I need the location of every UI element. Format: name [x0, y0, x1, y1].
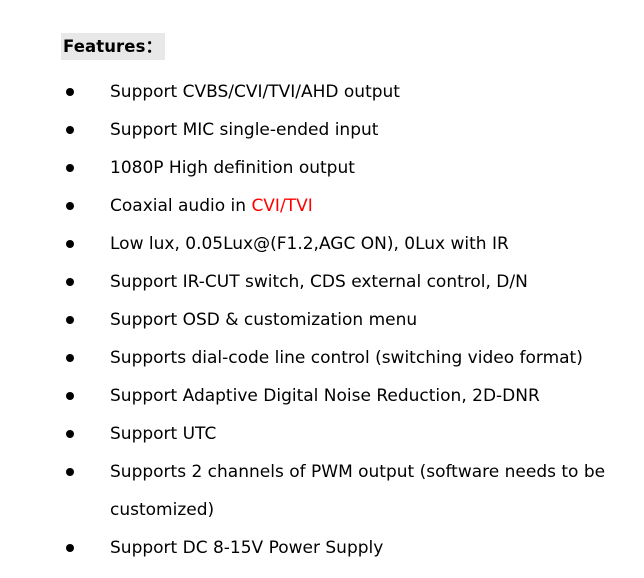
list-item: Support OSD & customization menu	[61, 301, 631, 339]
list-item-label: Support MIC single-ended input	[110, 120, 378, 140]
list-item: Support IR-CUT switch, CDS external cont…	[61, 263, 631, 301]
bullet-icon	[66, 278, 74, 286]
list-item-label-prefix: Coaxial audio in	[110, 196, 251, 216]
list-item-label: Support DC 8-15V Power Supply	[110, 538, 383, 558]
features-page: Features： Support CVBS/CVI/TVI/AHD outpu…	[0, 0, 644, 578]
bullet-icon	[66, 126, 74, 134]
list-item-label: Low lux, 0.05Lux@(F1.2,AGC ON), 0Lux wit…	[110, 234, 509, 254]
bullet-icon	[66, 354, 74, 362]
list-item: Support CVBS/CVI/TVI/AHD output	[61, 73, 631, 111]
list-item-label: Support UTC	[110, 424, 216, 444]
list-item-label: Supports dial-code line control (switchi…	[110, 348, 583, 368]
list-item-label: Supports 2 channels of PWM output (softw…	[110, 462, 605, 520]
feature-list: Support CVBS/CVI/TVI/AHD output Support …	[61, 73, 631, 567]
bullet-icon	[66, 316, 74, 324]
list-item: Support MIC single-ended input	[61, 111, 631, 149]
list-item-label: 1080P High definition output	[110, 158, 355, 178]
list-item-label: Support Adaptive Digital Noise Reduction…	[110, 386, 540, 406]
bullet-icon	[66, 88, 74, 96]
bullet-icon	[66, 544, 74, 552]
bullet-icon	[66, 430, 74, 438]
list-item-label: Support IR-CUT switch, CDS external cont…	[110, 272, 528, 292]
list-item: Support Adaptive Digital Noise Reduction…	[61, 377, 631, 415]
list-item: Support DC 8-15V Power Supply	[61, 529, 631, 567]
list-item-label: Support OSD & customization menu	[110, 310, 417, 330]
list-item: 1080P High definition output	[61, 149, 631, 187]
list-item-label-highlight: CVI/TVI	[251, 196, 312, 216]
list-item: Support UTC	[61, 415, 631, 453]
list-item: Low lux, 0.05Lux@(F1.2,AGC ON), 0Lux wit…	[61, 225, 631, 263]
page-title: Features：	[61, 33, 165, 60]
list-item: Supports dial-code line control (switchi…	[61, 339, 631, 377]
bullet-icon	[66, 164, 74, 172]
bullet-icon	[66, 240, 74, 248]
list-item: Supports 2 channels of PWM output (softw…	[61, 453, 644, 529]
list-item: Coaxial audio in CVI/TVI	[61, 187, 631, 225]
list-item-label: Support CVBS/CVI/TVI/AHD output	[110, 82, 400, 102]
bullet-icon	[66, 468, 74, 476]
bullet-icon	[66, 392, 74, 400]
bullet-icon	[66, 202, 74, 210]
